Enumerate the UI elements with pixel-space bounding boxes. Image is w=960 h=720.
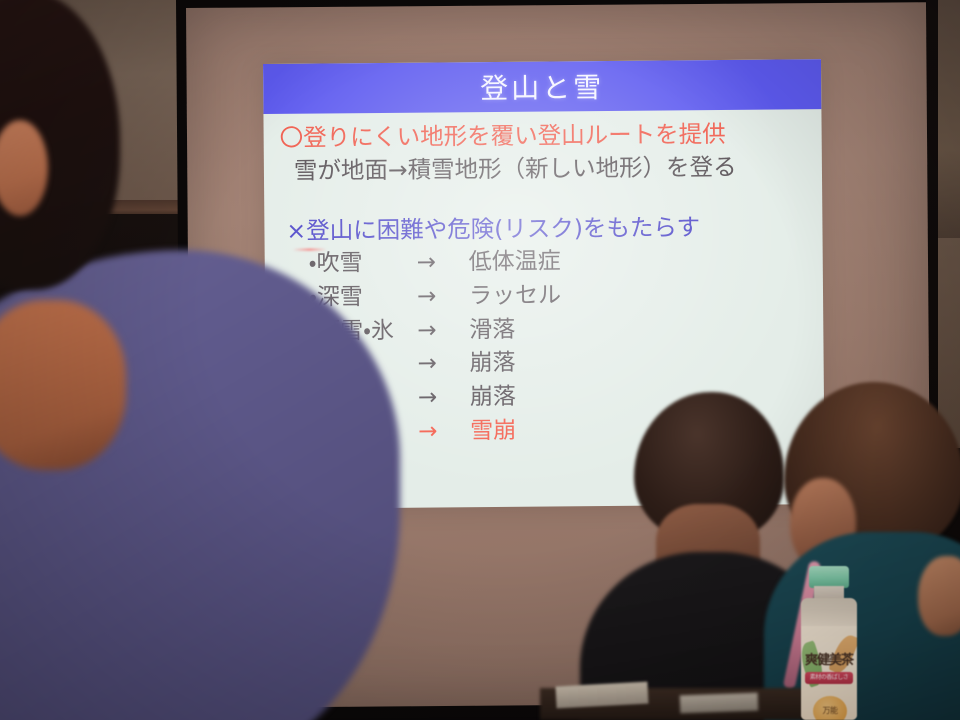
slide-paragraph1-line2: 雪が地面→積雪地形（新しい地形）を登る [294,151,808,189]
list-item-term-0: ・吹雪 [309,247,417,282]
bottle-banner-text: 素材の香ばしさ [805,672,853,684]
bottle-banner: 素材の香ばしさ [805,672,853,684]
list-item-result-3: 崩落 [469,347,515,381]
slide-list-item-0: ・吹雪→低体温症 [309,243,809,281]
bottle-body: 爽健美茶 素材の香ばしさ 万能 [801,598,857,720]
bottle-cap [809,566,849,588]
papers-stack-secondary [680,693,759,714]
slide-title: 登山と雪 [480,66,604,107]
list-item-arrow-4: → [418,381,470,415]
list-item-arrow-0: → [417,246,469,280]
bottle-badge: 万能 [813,696,847,720]
list-item-arrow-2: → [417,314,469,348]
presentation-room-photo: 登山と雪 〇登りにくい地形を覆い登山ルートを提供 雪が地面→積雪地形（新しい地形… [0,0,960,720]
list-item-result-1: ラッセル [469,279,561,314]
list-item-result-2: 滑落 [469,313,515,347]
list-item-result-4: 崩落 [470,381,516,415]
bottle-brand-text: 爽健美茶 [804,648,854,668]
slide-paragraph1-line1: 〇登りにくい地形を覆い登山ルートを提供 [280,117,808,155]
foreground-attendee-neck [0,300,126,470]
list-item-arrow-3: → [417,348,469,382]
list-item-result-5: 雪崩 [470,415,516,449]
attendee-hand [918,556,960,636]
beverage-bottle: 爽健美茶 素材の香ばしさ 万能 [797,566,861,720]
list-item-arrow-5: → [418,415,470,449]
bottle-badge-text: 万能 [813,696,847,720]
slide-list-item-3: ・雪渓→崩落 [309,345,809,383]
list-item-arrow-1: → [417,280,469,314]
slide-title-bar: 登山と雪 [263,59,821,114]
wall-panel-right-upper [938,0,960,250]
list-item-result-0: 低体温症 [469,245,561,280]
slide-list-item-2: ・硬雪・氷→滑落 [309,311,809,349]
slide-list-item-1: ・深雪→ラッセル [309,277,809,315]
slide-paragraph2-heading: ×登山に困難や危険(リスク)をもたらす [286,210,808,248]
